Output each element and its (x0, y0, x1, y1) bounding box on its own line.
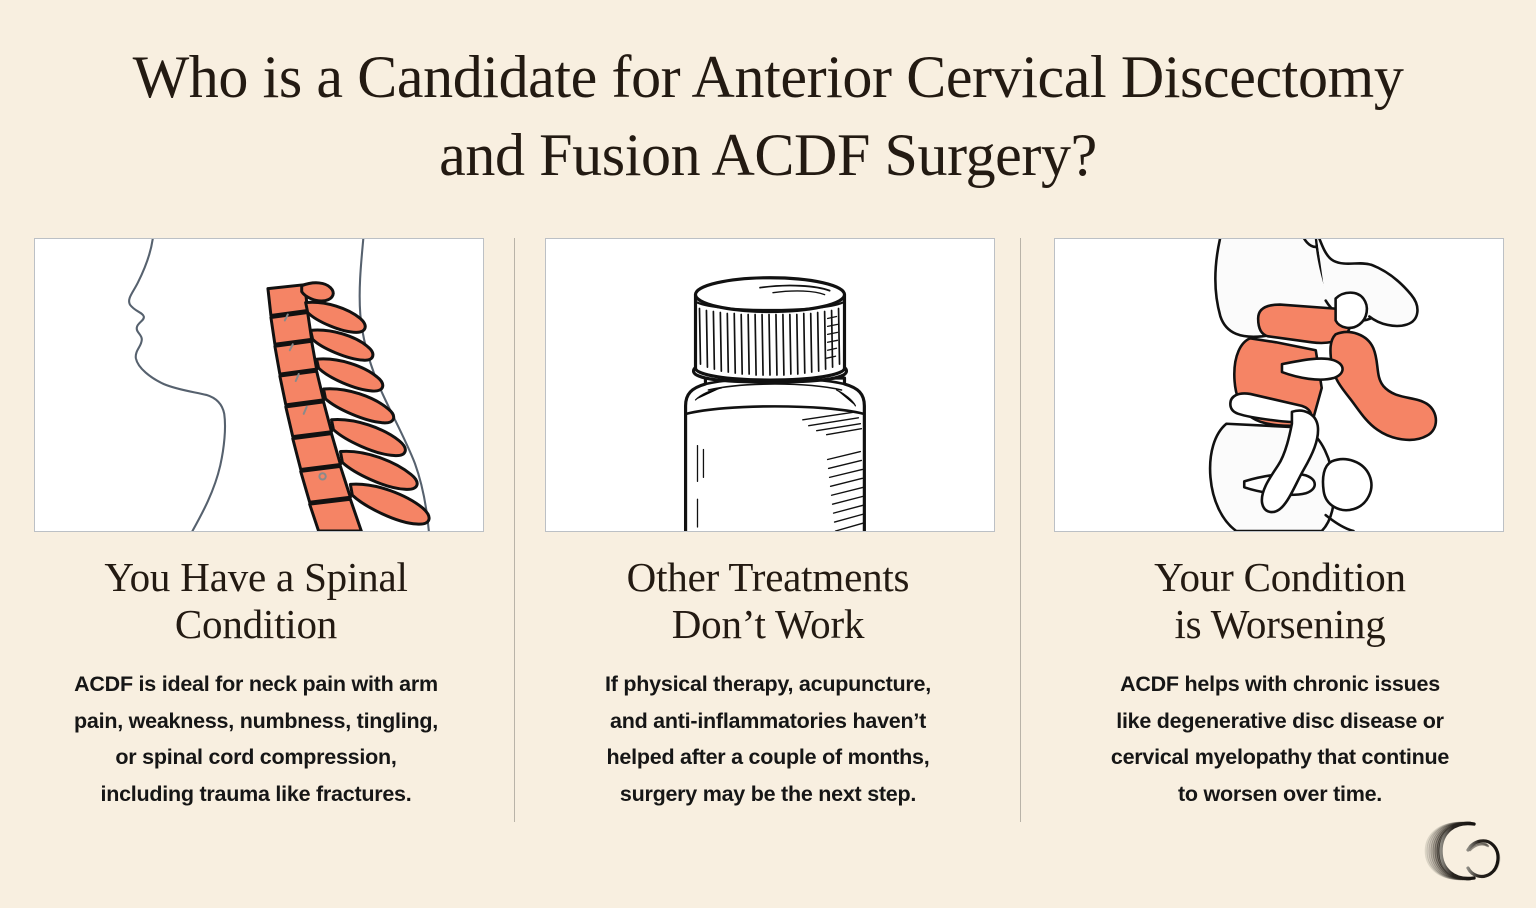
vertebrae-closeup-illustration (1054, 238, 1504, 532)
card-heading-line-2: Don’t Work (672, 601, 865, 647)
card-body-condition-worsening: ACDF helps with chronic issues like dege… (1024, 666, 1536, 812)
card-body-line: pain, weakness, numbness, tingling, (0, 703, 512, 740)
card-heading-condition-worsening: Your Condition is Worsening (1024, 554, 1536, 648)
page-title-line-1: Who is a Candidate for Anterior Cervical… (50, 38, 1486, 116)
pill-bottle-illustration (545, 238, 995, 532)
card-body-line: If physical therapy, acupuncture, (512, 666, 1024, 703)
card-body-line: and anti-inflammatories haven’t (512, 703, 1024, 740)
infographic-root: Who is a Candidate for Anterior Cervical… (0, 0, 1536, 908)
co-monogram-logo (1412, 812, 1508, 890)
card-body-other-treatments: If physical therapy, acupuncture, and an… (512, 666, 1024, 812)
card-body-line: like degenerative disc disease or (1024, 703, 1536, 740)
card-spinal-condition: You Have a Spinal Condition ACDF is idea… (0, 238, 512, 838)
cards-row: You Have a Spinal Condition ACDF is idea… (0, 238, 1536, 838)
card-body-line: cervical myelopathy that continue (1024, 739, 1536, 776)
card-body-line: including trauma like fractures. (0, 776, 512, 813)
card-body-spinal-condition: ACDF is ideal for neck pain with arm pai… (0, 666, 512, 812)
page-title: Who is a Candidate for Anterior Cervical… (50, 38, 1486, 194)
card-body-line: or spinal cord compression, (0, 739, 512, 776)
card-other-treatments: Other Treatments Don’t Work If physical … (512, 238, 1024, 838)
card-body-line: to worsen over time. (1024, 776, 1536, 813)
card-heading-line-2: is Worsening (1174, 601, 1385, 647)
card-body-line: ACDF helps with chronic issues (1024, 666, 1536, 703)
card-condition-worsening: Your Condition is Worsening ACDF helps w… (1024, 238, 1536, 838)
card-heading-line-2: Condition (175, 601, 337, 647)
card-heading-line-1: You Have a Spinal (104, 554, 407, 600)
neck-profile-cervical-spine-illustration (34, 238, 484, 532)
page-title-line-2: and Fusion ACDF Surgery? (50, 116, 1486, 194)
card-body-line: ACDF is ideal for neck pain with arm (0, 666, 512, 703)
card-heading-line-1: Your Condition (1154, 554, 1406, 600)
card-body-line: surgery may be the next step. (512, 776, 1024, 813)
card-heading-other-treatments: Other Treatments Don’t Work (512, 554, 1024, 648)
card-heading-spinal-condition: You Have a Spinal Condition (0, 554, 512, 648)
card-heading-line-1: Other Treatments (627, 554, 910, 600)
card-body-line: helped after a couple of months, (512, 739, 1024, 776)
